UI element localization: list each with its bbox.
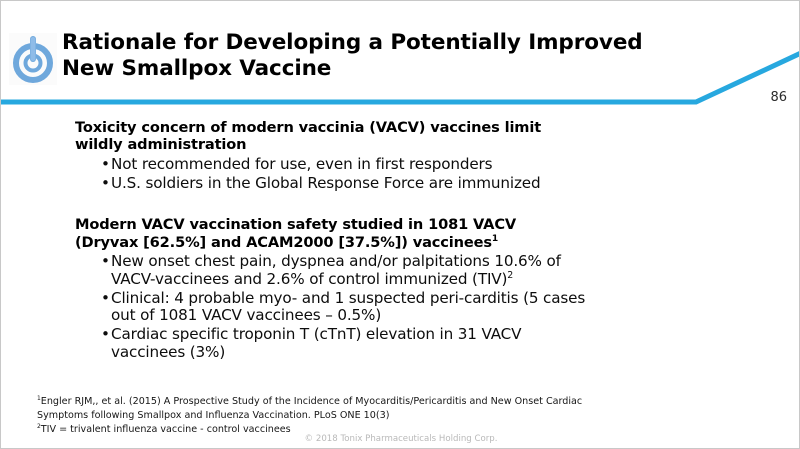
list-item: • U.S. soldiers in the Global Response F… [75,175,715,193]
list-item-line: VACV-vaccinees and 2.6% of control immun… [111,271,715,289]
list-item: • Cardiac specific troponin T (cTnT) ele… [75,326,715,362]
list-item-line: Cardiac specific troponin T (cTnT) eleva… [111,326,715,344]
bullet-marker-icon: • [101,326,110,344]
bullet-marker-icon: • [101,253,110,271]
footnotes: 1Engler RJM,, et al. (2015) A Prospectiv… [37,395,777,436]
block-2-heading-line-1: Modern VACV vaccination safety studied i… [75,216,715,233]
bullet-marker-icon: • [101,175,110,193]
list-item-line: out of 1081 VACV vaccinees – 0.5%) [111,307,715,325]
list-item-text: Not recommended for use, even in first r… [111,156,715,174]
footnote-1: 1Engler RJM,, et al. (2015) A Prospectiv… [37,395,777,409]
slide-canvas: Rationale for Developing a Potentially I… [0,0,800,449]
list-item: • Not recommended for use, even in first… [75,156,715,174]
copyright-notice: © 2018 Tonix Pharmaceuticals Holding Cor… [1,434,800,444]
list-item: • Clinical: 4 probable myo- and 1 suspec… [75,290,715,326]
footnote-2-line-1: TIV = trivalent influenza vaccine - cont… [41,424,291,435]
block-1-heading-line-2: wildly administration [75,136,715,153]
block-2-heading: Modern VACV vaccination safety studied i… [75,216,715,251]
block-1-heading: Toxicity concern of modern vaccinia (VAC… [75,119,715,154]
block-2-heading-line-2-text: (Dryvax [62.5%] and ACAM2000 [37.5%]) va… [75,234,492,251]
slide-body: Toxicity concern of modern vaccinia (VAC… [75,119,715,372]
list-item-line: New onset chest pain, dyspnea and/or pal… [111,253,715,271]
list-item: • New onset chest pain, dyspnea and/or p… [75,253,715,289]
block-2-heading-superscript: 1 [492,234,498,244]
list-item-text: Clinical: 4 probable myo- and 1 suspecte… [111,290,715,326]
block-2-heading-line-2: (Dryvax [62.5%] and ACAM2000 [37.5%]) va… [75,234,715,251]
footnote-1-line-1: Engler RJM,, et al. (2015) A Prospective… [41,396,582,407]
list-item-text: U.S. soldiers in the Global Response For… [111,175,715,193]
list-item-text: Cardiac specific troponin T (cTnT) eleva… [111,326,715,362]
block-2-bullet-list: • New onset chest pain, dyspnea and/or p… [75,253,715,362]
accent-rule-divider [1,45,800,107]
bullet-marker-icon: • [101,156,110,174]
block-1-bullet-list: • Not recommended for use, even in first… [75,156,715,193]
content-block-1: Toxicity concern of modern vaccinia (VAC… [75,119,715,192]
accent-rule-svg [1,45,800,107]
list-item-line: vaccinees (3%) [111,344,715,362]
list-item-line-text: VACV-vaccinees and 2.6% of control immun… [111,270,507,288]
footnote-1-line-2: Symptoms following Smallpox and Influenz… [37,409,777,423]
bullet-marker-icon: • [101,290,110,308]
list-item-line: Clinical: 4 probable myo- and 1 suspecte… [111,290,715,308]
content-block-2: Modern VACV vaccination safety studied i… [75,216,715,361]
list-item-superscript: 2 [507,270,513,281]
list-item-line: Not recommended for use, even in first r… [111,156,715,174]
page-number: 86 [770,90,787,105]
list-item-text: New onset chest pain, dyspnea and/or pal… [111,253,715,289]
list-item-line: U.S. soldiers in the Global Response For… [111,175,715,193]
block-1-heading-line-1: Toxicity concern of modern vaccinia (VAC… [75,119,715,136]
